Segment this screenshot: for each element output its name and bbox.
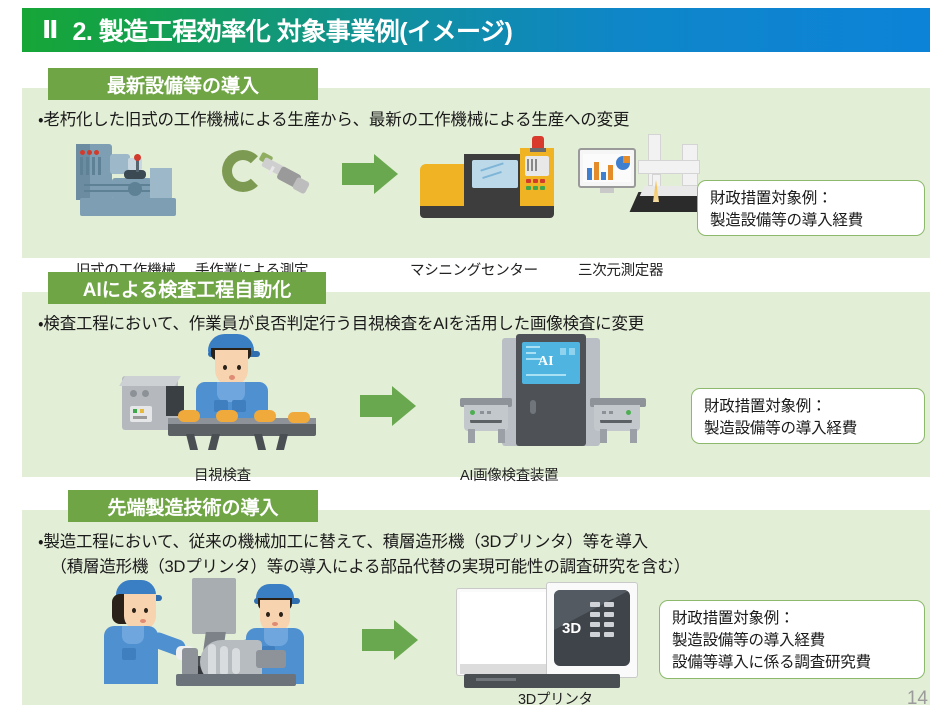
coordinate-measuring-machine-illustration (578, 134, 708, 220)
section-header-1-label: 最新設備等の導入 (107, 71, 259, 98)
page-number: 14 (907, 688, 928, 710)
machining-center-illustration (420, 136, 556, 220)
page-title: 2. 製造工程効率化 対象事業例(イメージ) (72, 12, 512, 48)
transition-arrow-2 (360, 386, 418, 426)
ai-image-inspection-device-illustration: AI (460, 334, 648, 450)
transition-arrow-3 (362, 620, 420, 660)
section-header-3: 先端製造技術の導入 (68, 490, 318, 522)
title-roman-numeral: Ⅱ (42, 18, 58, 43)
three-d-printer-illustration: 3D (450, 582, 650, 688)
section-body-1: ・老朽化した旧式の工作機械による生産から、最新の工作機械による生産への変更 (38, 108, 629, 133)
transition-arrow-1 (342, 154, 400, 194)
callout-box-2: 財政措置対象例： 製造設備等の導入経費 (691, 388, 925, 444)
caption-machining-center: マシニングセンター (410, 259, 538, 280)
callout-box-3: 財政措置対象例： 製造設備等の導入経費 設備等導入に係る調査研究費 (659, 600, 925, 679)
section-header-3-label: 先端製造技術の導入 (107, 493, 278, 520)
slide-root: Ⅱ 2. 製造工程効率化 対象事業例(イメージ) (0, 0, 952, 720)
caption-3d-printer: 3Dプリンタ (518, 688, 593, 709)
printer-screen-label: 3D (562, 620, 581, 637)
callout-box-1: 財政措置対象例： 製造設備等の導入経費 (697, 180, 925, 236)
section-header-1: 最新設備等の導入 (48, 68, 318, 100)
old-lathe-illustration (72, 136, 192, 218)
section-header-2-label: AIによる検査工程自動化 (83, 275, 291, 302)
machining-workers-illustration (100, 578, 340, 686)
visual-inspection-worker-illustration (122, 334, 342, 446)
section-header-2: AIによる検査工程自動化 (48, 272, 326, 304)
micrometer-illustration (220, 144, 316, 208)
caption-cmm: 三次元測定器 (578, 259, 663, 280)
caption-visual-inspection: 目視検査 (194, 464, 251, 485)
section-body-2: ・検査工程において、作業員が良否判定行う目視検査をAIを活用した画像検査に変更 (38, 312, 644, 337)
caption-ai-device: AI画像検査装置 (460, 464, 558, 485)
ai-screen-label: AI (538, 354, 554, 370)
section-body-3: ・製造工程において、従来の機械加工に替えて、積層造形機（3Dプリンタ）等を導入 … (38, 530, 690, 580)
slide-title-bar: Ⅱ 2. 製造工程効率化 対象事業例(イメージ) (22, 8, 930, 52)
